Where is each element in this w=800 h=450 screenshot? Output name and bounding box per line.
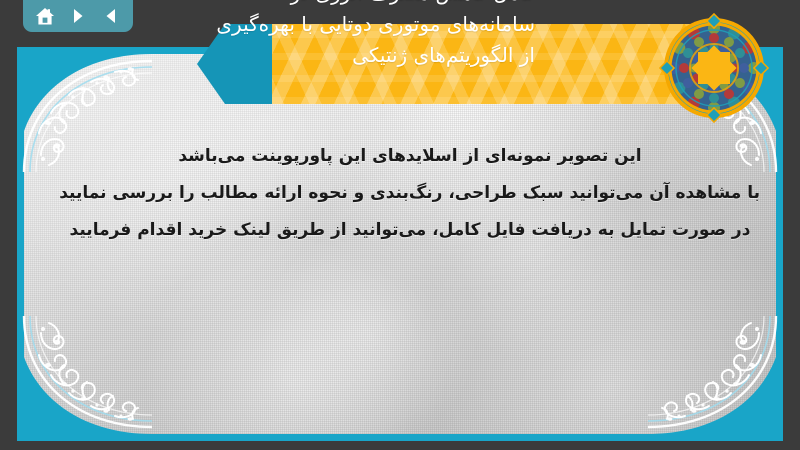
body-line-3: در صورت تمایل به دریافت فایل کامل، می‌تو… [60, 212, 760, 249]
next-slide-button[interactable] [65, 3, 91, 29]
home-icon [35, 7, 55, 26]
banner-body [272, 24, 717, 104]
banner-weave-pattern [272, 24, 717, 104]
slide-viewer: کامل کاهش مصرف انرژی در سامانه‌های موتور… [0, 0, 800, 450]
triangle-right-icon [69, 7, 87, 25]
previous-slide-button[interactable] [98, 3, 124, 29]
islamic-star-medallion-icon [658, 12, 770, 124]
triangle-left-icon [102, 7, 120, 25]
home-button[interactable] [32, 3, 58, 29]
banner-ribbon-tail-icon [197, 24, 277, 104]
navigation-bar [23, 0, 133, 32]
slide-body-text: این تصویر نمونه‌ای از اسلایدهای این پاور… [60, 138, 760, 249]
body-line-1: این تصویر نمونه‌ای از اسلایدهای این پاور… [60, 138, 760, 175]
body-line-2: با مشاهده آن می‌توانید سبک طراحی، رنگ‌بن… [60, 175, 760, 212]
